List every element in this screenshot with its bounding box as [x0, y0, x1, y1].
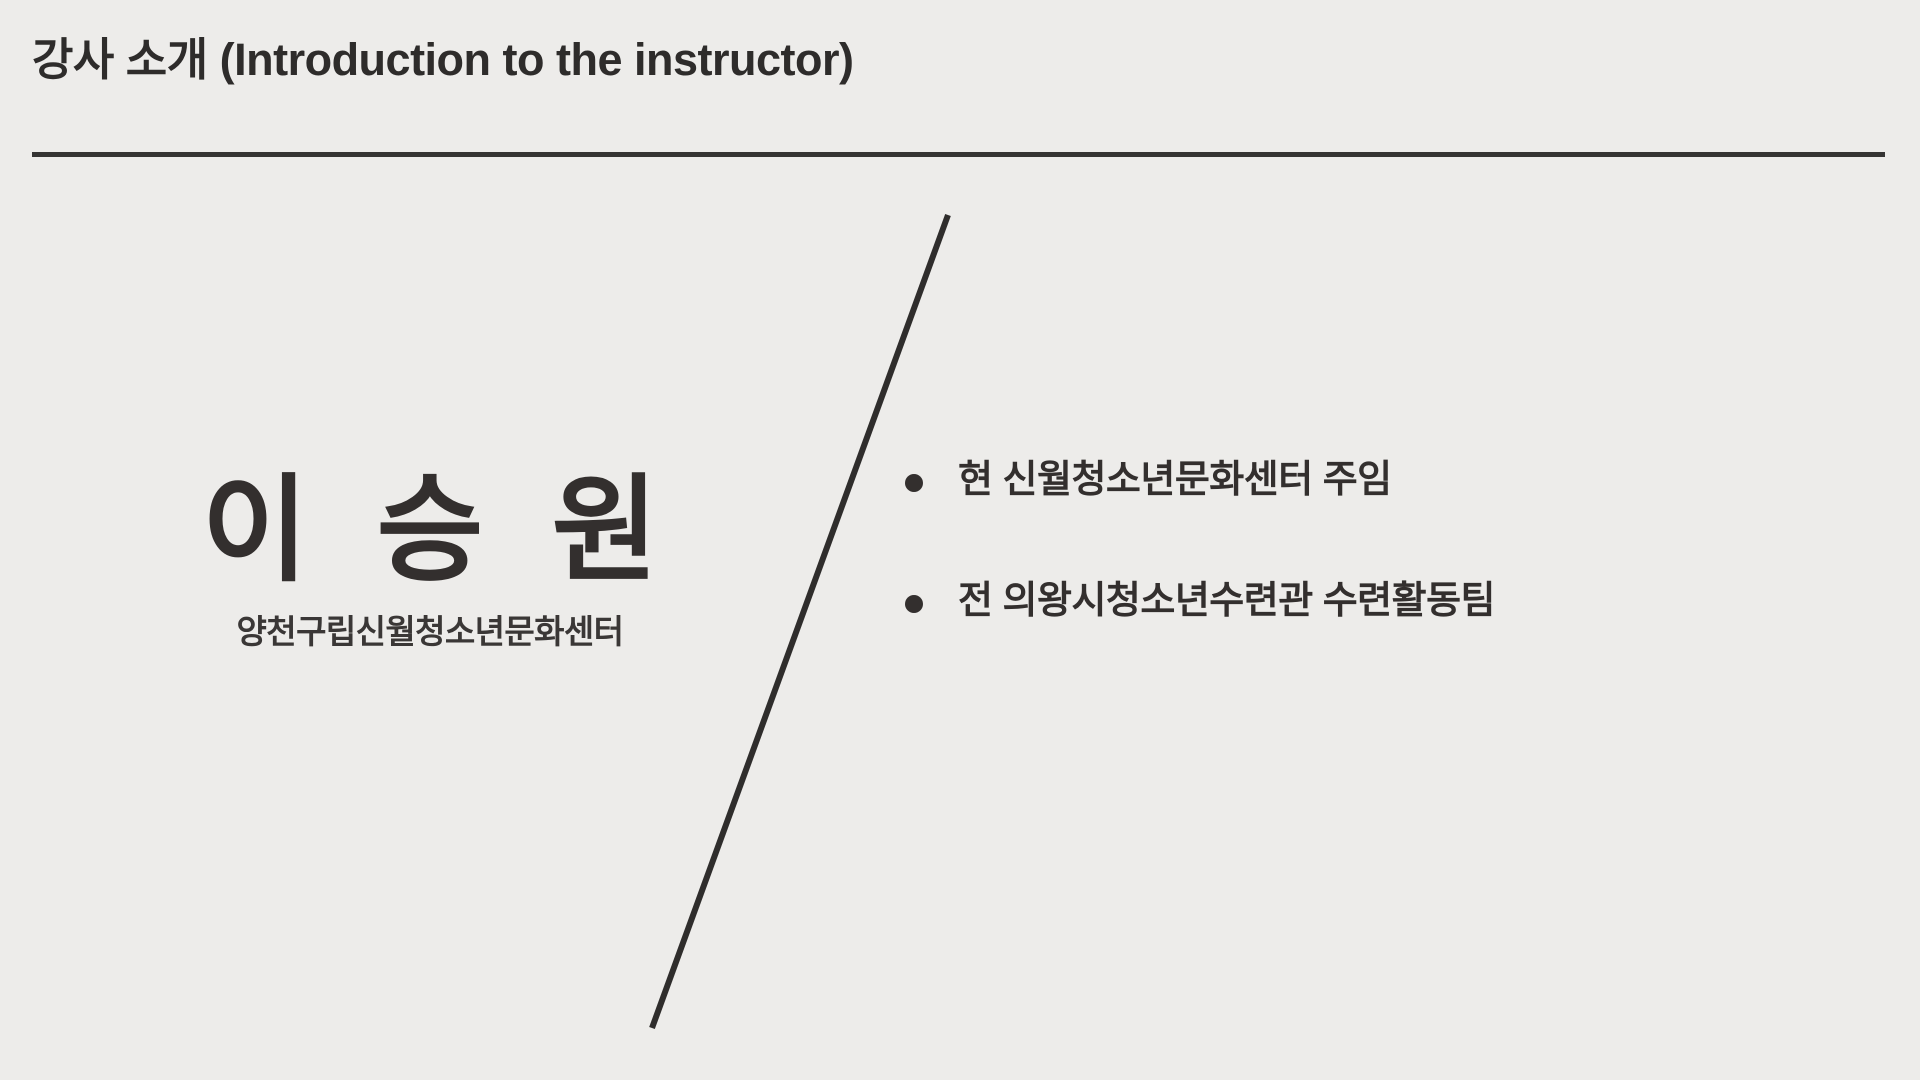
slide-canvas: 강사 소개 (Introduction to the instructor) 이… [0, 0, 1920, 1080]
list-item: 전 의왕시청소년수련관 수련활동팀 [905, 576, 1865, 627]
slide-header: 강사 소개 (Introduction to the instructor) [32, 34, 1885, 86]
dot-bullet-icon [905, 595, 923, 613]
credential-text: 전 의왕시청소년수련관 수련활동팀 [958, 576, 1495, 627]
instructor-identity-block: 이 승 원 양천구립신월청소년문화센터 [0, 462, 860, 652]
instructor-name: 이 승 원 [0, 462, 860, 599]
instructor-affiliation: 양천구립신월청소년문화센터 [0, 611, 860, 652]
credential-text: 현 신월청소년문화센터 주임 [958, 455, 1392, 506]
dot-bullet-icon [905, 474, 923, 492]
title-divider-rule [32, 152, 1885, 157]
credentials-list: 현 신월청소년문화센터 주임 전 의왕시청소년수련관 수련활동팀 [905, 455, 1865, 628]
list-item: 현 신월청소년문화센터 주임 [905, 455, 1865, 506]
page-title: 강사 소개 (Introduction to the instructor) [32, 34, 1885, 86]
